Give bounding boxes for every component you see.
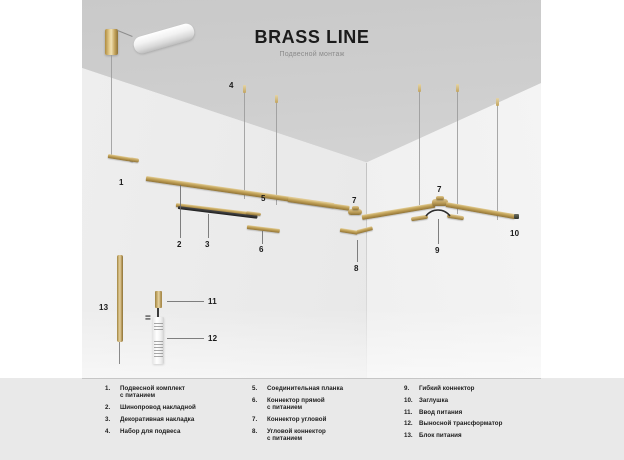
legend-item-label: Набор для подвеса [120,428,180,435]
legend-item: 5.Соединительная планка [252,385,400,392]
legend-panel: 1.Подвесной комплектс питанием2.Шинопров… [0,378,624,460]
legend-item-label: Ввод питания [419,409,462,416]
legend-column-3: 9.Гибкий коннектор10.Заглушка11.Ввод пит… [404,385,554,444]
suspension-wire [276,103,277,205]
legend-item-label: Угловой коннекторс питанием [267,428,326,443]
corner-connector-apex-cap [436,196,444,200]
power-supply-wire [119,342,120,364]
callout-2: 2 [177,240,182,249]
leader-11 [167,301,204,302]
legend-item-number: 4. [105,428,120,435]
legend-item-number: 2. [105,404,120,411]
callout-9: 9 [435,246,440,255]
callout-10: 10 [510,229,519,238]
legend-item: 11.Ввод питания [404,409,554,416]
suspension-wire [497,106,498,220]
legend-divider [82,378,541,379]
callout-5: 5 [261,194,266,203]
legend-item: 10.Заглушка [404,397,554,404]
legend-item-label: Блок питания [419,432,462,439]
legend-item: 3.Декоративная накладка [105,416,250,423]
callout-7-apex: 7 [437,185,442,194]
power-supply-rod [117,255,123,342]
suspension-wire [419,92,420,205]
page-title: BRASS LINE [0,27,624,48]
legend-item-number: 11. [404,409,419,416]
leader-6 [262,231,263,244]
legend-item-number: 8. [252,428,267,443]
leader-2 [180,185,181,238]
equals-sign: = [145,313,151,324]
legend-item: 7.Коннектор угловой [252,416,400,423]
legend-item-label: Соединительная планка [267,385,343,392]
legend-item-label: Подвесной комплектс питанием [120,385,185,400]
callout-3: 3 [205,240,210,249]
legend-column-2: 5.Соединительная планка6.Коннектор прямо… [252,385,400,447]
power-input-pin [155,291,162,308]
legend-item: 13.Блок питания [404,432,554,439]
legend-item-label: Шинопровод накладной [120,404,196,411]
legend-column-1: 1.Подвесной комплектс питанием2.Шинопров… [105,385,250,440]
legend-item: 12.Выносной трансформатор [404,420,554,427]
legend-item: 4.Набор для подвеса [105,428,250,435]
flex-connector-cable [424,206,452,220]
legend-item-label: Коннектор угловой [267,416,326,423]
suspension-tip [456,84,459,92]
suspension-tip [243,85,246,93]
legend-item-number: 5. [252,385,267,392]
callout-12: 12 [208,334,217,343]
suspension-wire [457,92,458,214]
callout-6: 6 [259,245,264,254]
page-subtitle: Подвесной монтаж [0,51,624,58]
legend-item: 1.Подвесной комплектс питанием [105,385,250,400]
callout-13: 13 [99,303,108,312]
legend-item-label: Заглушка [419,397,448,404]
callout-7-left: 7 [352,196,357,205]
leader-9 [438,219,439,244]
legend-item-number: 10. [404,397,419,404]
legend-item-number: 12. [404,420,419,427]
corner-connector-cap [352,206,359,210]
callout-4: 4 [229,81,234,90]
legend-item: 8.Угловой коннекторс питанием [252,428,400,443]
legend-item-number: 7. [252,416,267,423]
legend-item-number: 3. [105,416,120,423]
legend-item: 2.Шинопровод накладной [105,404,250,411]
suspension-tip [418,84,421,92]
remote-transformer-block [153,317,164,364]
legend-item-label: Гибкий коннектор [419,385,475,392]
callout-8: 8 [354,264,359,273]
legend-item-label: Декоративная накладка [120,416,194,423]
suspension-tip [275,95,278,103]
legend-item-number: 13. [404,432,419,439]
leader-8 [357,240,358,262]
suspension-wire [244,93,245,199]
callout-1: 1 [119,178,124,187]
legend-item-label: Коннектор прямойс питанием [267,397,325,412]
product-diagram-page: = 4 1 2 3 5 6 7 7 8 9 10 11 12 13 BRASS … [0,0,624,460]
legend-item: 6.Коннектор прямойс питанием [252,397,400,412]
legend-item-number: 1. [105,385,120,400]
leader-3 [208,214,209,238]
suspension-tip [496,98,499,106]
end-cap [514,214,519,219]
legend-item-label: Выносной трансформатор [419,420,502,427]
callout-11: 11 [208,297,217,306]
legend-item: 9.Гибкий коннектор [404,385,554,392]
legend-item-number: 9. [404,385,419,392]
pendant-cable-left [111,55,112,157]
leader-12 [167,338,204,339]
legend-item-number: 6. [252,397,267,412]
